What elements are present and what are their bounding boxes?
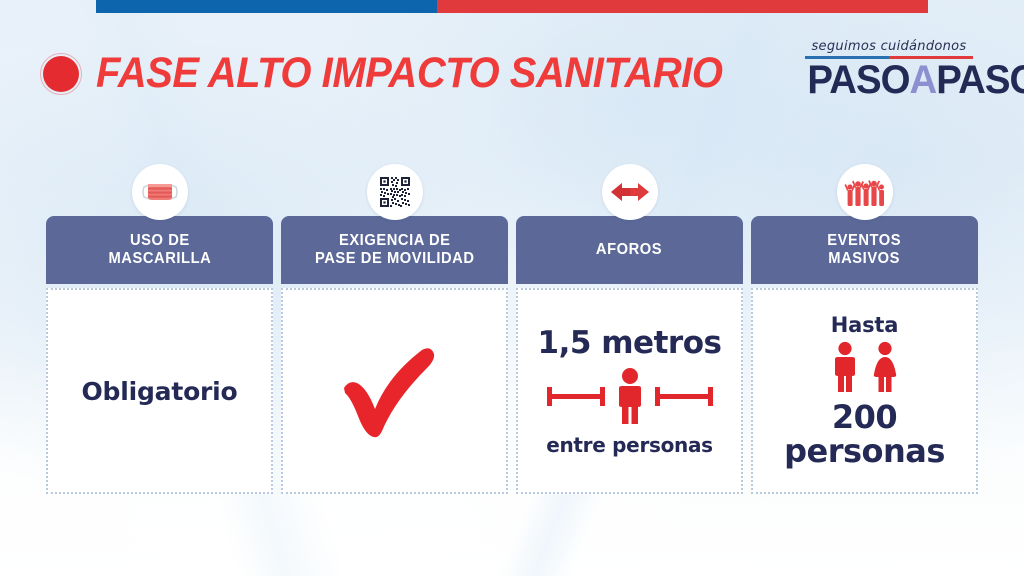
column-header-aforos: AFOROS	[516, 216, 743, 284]
column-body-exigencia-de-pase-de-movilidad	[281, 288, 508, 494]
column-eventos-masivos: EVENTOS MASIVOS Hasta	[751, 216, 978, 494]
logo-word-part1: PASO	[807, 58, 909, 102]
logo-word-middle-a: A	[910, 58, 937, 102]
measure-bar-left	[547, 385, 605, 407]
column-header-label: EVENTOS MASIVOS	[828, 232, 902, 269]
column-header-exigencia-de-pase-de-movilidad: EXIGENCIA DE PASE DE MOVILIDAD	[281, 216, 508, 284]
flag-stripe-bar	[0, 0, 1024, 13]
page-title-row: FASE ALTO IMPACTO SANITARIO	[40, 52, 770, 95]
column-header-label: USO DE MASCARILLA	[108, 232, 211, 269]
qr-code-icon	[367, 164, 423, 220]
column-body-aforos: 1,5 metros entre personas	[516, 288, 743, 494]
column-header-label: EXIGENCIA DE PASE DE MOVILIDAD	[315, 232, 475, 269]
column-header-label: AFOROS	[596, 241, 662, 259]
measures-grid: USO DE MASCARILLA Obligatorio	[46, 216, 978, 494]
logo-word-part2: PASO	[936, 58, 1024, 102]
column-body-uso-de-mascarilla: Obligatorio	[46, 288, 273, 494]
column-body-eventos-masivos: Hasta 200 personas	[751, 288, 978, 494]
column-header-uso-de-mascarilla: USO DE MASCARILLA	[46, 216, 273, 284]
column-header-eventos-masivos: EVENTOS MASIVOS	[751, 216, 978, 284]
paso-a-paso-logo: seguimos cuidándonos PASOAPASO	[804, 40, 974, 100]
red-circle-icon	[40, 53, 82, 95]
face-mask-icon	[132, 164, 188, 220]
check-mark-icon	[330, 336, 460, 446]
measure-bar-right	[655, 385, 713, 407]
distance-diagram	[547, 367, 713, 425]
flag-stripe-blue	[96, 0, 437, 13]
cell-value-obligatorio: Obligatorio	[81, 377, 237, 406]
cell-value-capacity: 200 personas	[784, 401, 945, 469]
column-uso-de-mascarilla: USO DE MASCARILLA Obligatorio	[46, 216, 273, 494]
logo-wordmark: PASOAPASO	[807, 60, 970, 100]
cell-value-distance-caption: entre personas	[546, 433, 713, 457]
page-title: FASE ALTO IMPACTO SANITARIO	[96, 52, 723, 95]
column-exigencia-de-pase-de-movilidad: EXIGENCIA DE PASE DE MOVILIDAD	[281, 216, 508, 494]
logo-tagline: seguimos cuidándonos	[804, 40, 974, 53]
woman-figure-icon	[868, 341, 902, 393]
infographic-slide: FASE ALTO IMPACTO SANITARIO seguimos cui…	[0, 0, 1024, 576]
cell-value-capacity-prefix: Hasta	[831, 313, 898, 337]
cell-value-distance: 1,5 metros	[538, 325, 722, 361]
person-icon	[611, 367, 649, 425]
crowd-icon	[837, 164, 893, 220]
flag-stripe-red	[437, 0, 928, 13]
column-aforos: AFOROS 1,5 metros	[516, 216, 743, 494]
man-woman-icon	[828, 341, 902, 393]
double-arrow-icon	[602, 164, 658, 220]
man-figure-icon	[828, 341, 862, 393]
